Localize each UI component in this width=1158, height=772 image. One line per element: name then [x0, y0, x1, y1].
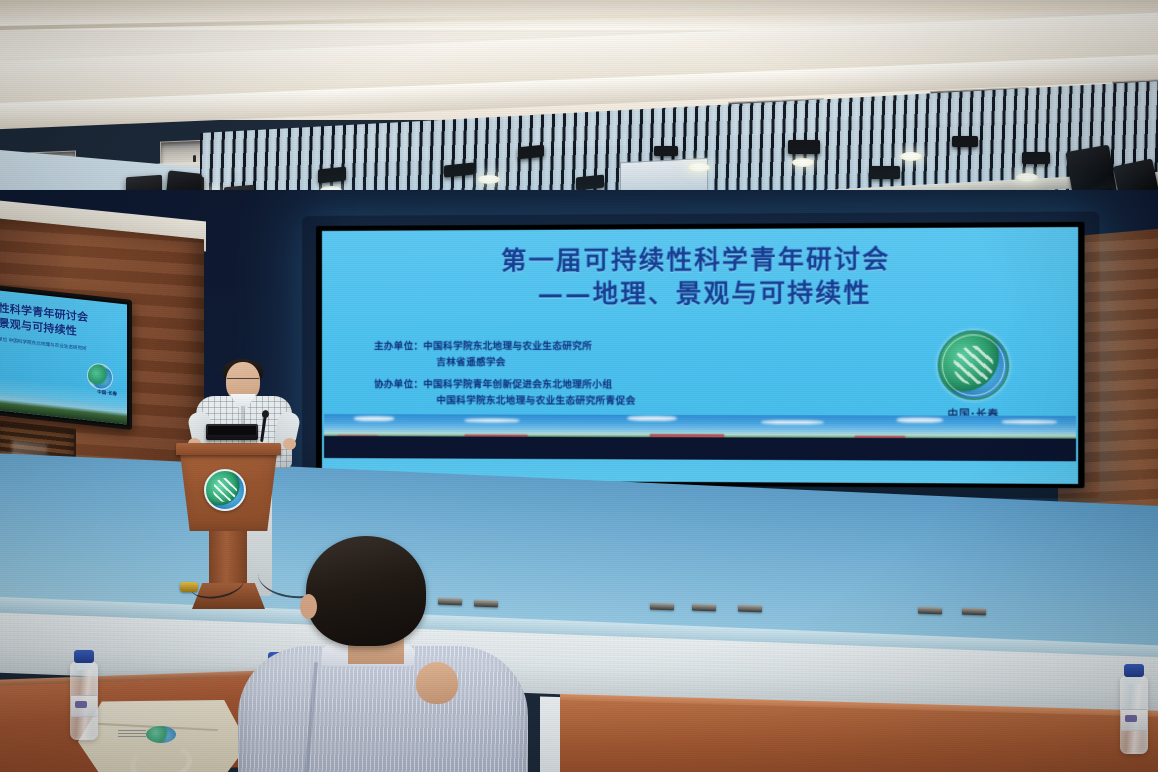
conference-hall-photo: 可持续性科学青年研讨会 地理、景观与可持续性 主办单位 协办单位 中国科学院东北… — [0, 0, 1158, 772]
audience-hand — [416, 662, 458, 704]
laptop-screen — [208, 426, 256, 435]
led-wall[interactable]: 第一届可持续性科学青年研讨会 ——地理、景观与可持续性 主办单位：中国科学院东北… — [316, 222, 1085, 488]
cloud — [465, 418, 520, 422]
bottle-cap — [1124, 664, 1144, 677]
stage-light — [318, 167, 346, 184]
stage-light — [654, 146, 678, 156]
slide-title-line1: 第一届可持续性科学青年研讨会 — [501, 244, 890, 275]
audience-hair — [306, 536, 426, 646]
podium-top — [176, 443, 281, 455]
slide-title: 第一届可持续性科学青年研讨会 ——地理、景观与可持续性 — [322, 241, 1078, 311]
audience-ear — [300, 594, 317, 619]
floor-outlet — [962, 608, 986, 616]
cloud — [354, 416, 394, 421]
stage-light — [1022, 152, 1050, 164]
institute-globe-logo-icon — [938, 330, 1010, 400]
eyeglasses-icon — [227, 378, 259, 386]
side-monitor-logo-caption: 中国·长春 — [97, 389, 117, 397]
cloud — [1002, 420, 1057, 424]
floor-outlet — [918, 607, 942, 615]
stage-light — [952, 136, 978, 147]
bottle-cap — [74, 650, 94, 663]
bottle-label — [71, 695, 97, 717]
emblem-ring — [942, 334, 1005, 396]
floor-outlet — [738, 605, 762, 613]
downlight — [900, 152, 922, 161]
organizer-line-2: 吉林省遥感学会 — [374, 355, 865, 371]
bottle-label — [1121, 709, 1147, 731]
slide-footer-bar — [324, 436, 1076, 461]
cloud — [627, 416, 676, 421]
led-wall-screen: 第一届可持续性科学青年研讨会 ——地理、景观与可持续性 主办单位：中国科学院东北… — [322, 227, 1078, 484]
institute-globe-logo-icon — [146, 726, 176, 743]
downlight — [1016, 173, 1038, 182]
downlight — [792, 158, 814, 167]
cohost-line-2: 中国科学院东北地理与农业生态研究所青促会 — [374, 393, 865, 410]
slide-panorama-photo — [324, 414, 1076, 461]
floor-object — [180, 582, 198, 592]
slide-logo-block: 中国·长春 — [928, 330, 1019, 421]
floor-outlet — [692, 604, 716, 612]
wall-mounted-display[interactable]: 可持续性科学青年研讨会 地理、景观与可持续性 主办单位 协办单位 中国科学院东北… — [0, 285, 132, 430]
institute-globe-logo-icon — [204, 469, 246, 511]
institute-globe-logo-icon — [87, 362, 113, 391]
downlight — [478, 175, 500, 184]
laptop — [206, 424, 258, 440]
side-monitor-screen: 可持续性科学青年研讨会 地理、景观与可持续性 主办单位 协办单位 中国科学院东北… — [0, 291, 127, 425]
stage-light — [870, 166, 900, 179]
tote-logo-text — [118, 730, 146, 737]
organizer-line: 主办单位：中国科学院东北地理与农业生态研究所 — [374, 341, 592, 352]
slide-organizers: 主办单位：中国科学院东北地理与农业生态研究所 吉林省遥感学会 协办单位：中国科学… — [374, 339, 865, 411]
cloud — [761, 420, 823, 424]
stage-light — [788, 140, 820, 154]
presenter-hand-right — [283, 438, 296, 450]
cohost-line: 协办单位：中国科学院青年创新促进会东北地理所小组 — [374, 379, 612, 390]
slide-title-line2: ——地理、景观与可持续性 — [340, 276, 1078, 311]
water-bottle-left — [70, 662, 98, 740]
cloud — [897, 417, 943, 422]
water-bottle-right — [1120, 676, 1148, 754]
downlight — [688, 163, 710, 172]
floor-outlet — [650, 603, 674, 611]
audience-member — [256, 536, 512, 772]
